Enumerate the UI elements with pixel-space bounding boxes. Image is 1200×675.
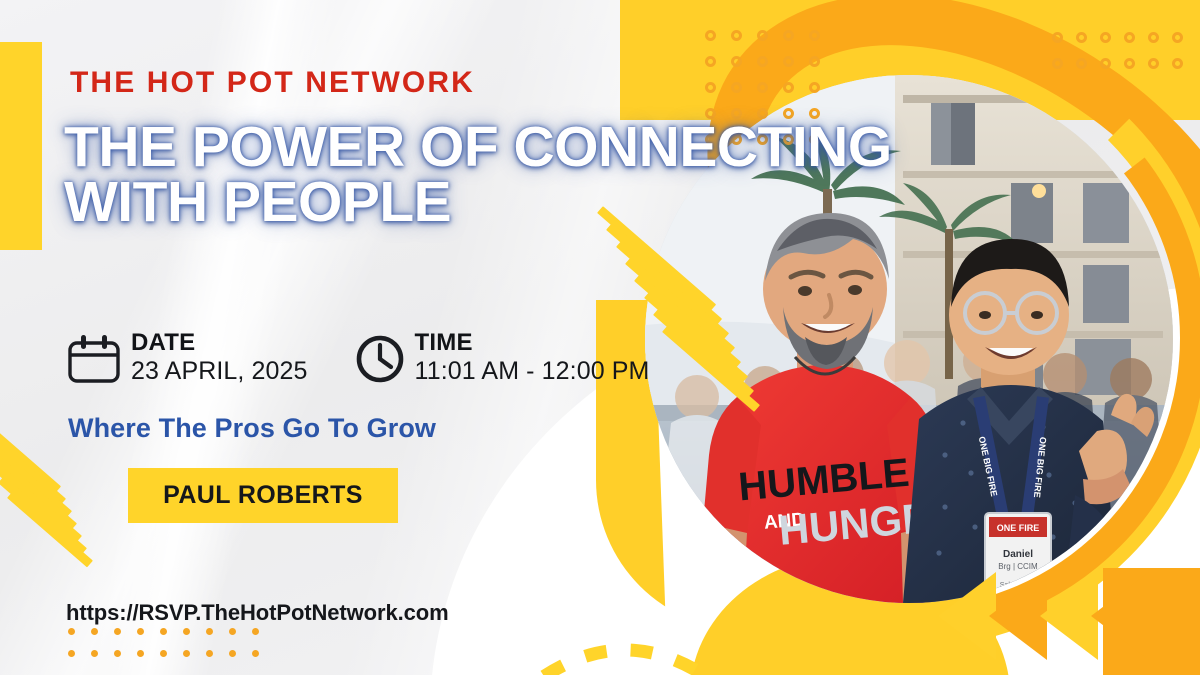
dashed-arc-decoration (500, 575, 750, 675)
date-label: DATE (131, 329, 195, 356)
decor-dot (114, 650, 121, 657)
decor-dot (705, 30, 716, 41)
triangle-3 (1040, 572, 1098, 660)
decor-dot (783, 82, 794, 93)
decor-dot (705, 82, 716, 93)
decor-dot (91, 628, 98, 635)
decor-dot (91, 650, 98, 657)
decor-dot (757, 30, 768, 41)
calendar-icon (66, 333, 122, 390)
decor-dot (1124, 58, 1135, 69)
decor-dot (1172, 32, 1183, 43)
decor-dot (229, 628, 236, 635)
decor-dot (783, 30, 794, 41)
triangle-2 (989, 572, 1047, 660)
decor-dot (114, 628, 121, 635)
decor-dot (1100, 32, 1111, 43)
svg-text:Daniel: Daniel (1003, 549, 1033, 560)
decor-dot (252, 650, 259, 657)
triangle-4 (1091, 572, 1149, 660)
svg-text:ONE FIRE: ONE FIRE (997, 523, 1040, 533)
decor-dot (68, 628, 75, 635)
decor-dot (731, 56, 742, 67)
decor-dot (1148, 32, 1159, 43)
date-value: 23 APRIL, 2025 (131, 356, 308, 386)
dot-grid-bottom-left (68, 628, 275, 672)
event-time-text: TIME 11:01 AM - 12:00 PM (415, 330, 650, 386)
decor-dot (731, 82, 742, 93)
speaker-name-badge: PAUL ROBERTS (128, 468, 398, 523)
decor-dot (1052, 32, 1063, 43)
decor-dot (252, 628, 259, 635)
decor-dot (229, 650, 236, 657)
decor-dot (783, 56, 794, 67)
speaker-name: PAUL ROBERTS (163, 481, 363, 510)
event-time: TIME 11:01 AM - 12:00 PM (354, 330, 650, 390)
decor-dot (206, 650, 213, 657)
brand-name: THE HOT POT NETWORK (70, 66, 475, 100)
decor-dot (137, 628, 144, 635)
event-meta: DATE 23 APRIL, 2025 TIME 11:01 AM - 12:0… (66, 330, 649, 390)
decor-dot (809, 30, 820, 41)
decor-dot (705, 56, 716, 67)
clock-icon (354, 333, 406, 390)
time-value: 11:01 AM - 12:00 PM (415, 356, 650, 386)
time-label: TIME (415, 329, 473, 356)
decor-dot (1052, 58, 1063, 69)
decor-dot (731, 30, 742, 41)
decor-dot (206, 628, 213, 635)
decor-dot (809, 82, 820, 93)
decor-dot (1100, 58, 1111, 69)
decor-dot (1076, 32, 1087, 43)
left-yellow-block (0, 42, 42, 250)
decor-dot (160, 628, 167, 635)
triangle-1 (938, 572, 996, 660)
event-date: DATE 23 APRIL, 2025 (66, 330, 308, 390)
decor-dot (1076, 58, 1087, 69)
svg-text:Brg | CCIM: Brg | CCIM (998, 562, 1038, 571)
decor-dot (137, 650, 144, 657)
event-flyer: HUMBLE AND HUNGRY (0, 0, 1200, 675)
decor-dot (1148, 58, 1159, 69)
decor-dot (757, 56, 768, 67)
event-date-text: DATE 23 APRIL, 2025 (131, 330, 308, 386)
decor-dot (809, 56, 820, 67)
rsvp-url[interactable]: https://RSVP.TheHotPotNetwork.com (66, 600, 449, 626)
decor-dot (183, 628, 190, 635)
dot-grid-top-right (1052, 32, 1196, 84)
tagline: Where The Pros Go To Grow (68, 413, 436, 444)
decor-dot (160, 650, 167, 657)
page-title: THE POWER OF CONNECTING WITH PEOPLE (64, 120, 984, 231)
decor-dot (1172, 58, 1183, 69)
decor-dot (68, 650, 75, 657)
decor-dot (757, 82, 768, 93)
decor-dot (1124, 32, 1135, 43)
decor-dot (183, 650, 190, 657)
